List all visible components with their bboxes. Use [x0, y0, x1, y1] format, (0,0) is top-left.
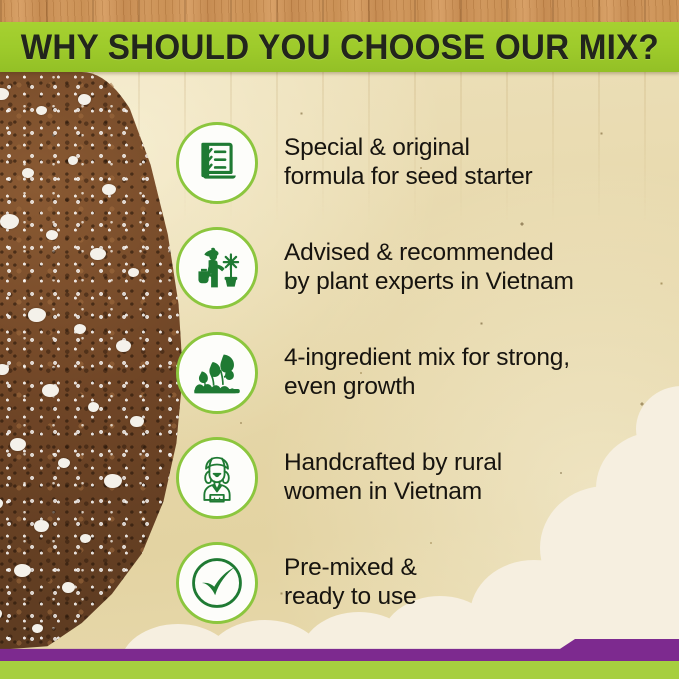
- benefit-line-1: 4-ingredient mix for strong,: [284, 344, 570, 371]
- benefit-line-2: even growth: [284, 373, 570, 402]
- list-item: Pre-mixed & ready to use: [176, 530, 679, 635]
- checkmark-circle-icon: [187, 553, 247, 613]
- benefit-line-1: Pre-mixed &: [284, 554, 417, 581]
- benefit-line-2: by plant experts in Vietnam: [284, 268, 574, 297]
- list-item: Special & original formula for seed star…: [176, 110, 679, 215]
- benefit-text: Pre-mixed & ready to use: [284, 554, 417, 611]
- green-footer-band: [0, 661, 679, 679]
- benefit-text: Handcrafted by rural women in Vietnam: [284, 449, 502, 506]
- benefit-icon-badge: [176, 332, 258, 414]
- list-item: Advised & recommended by plant experts i…: [176, 215, 679, 320]
- benefit-line-1: Special & original: [284, 134, 470, 161]
- sprouting-seedlings-icon: [190, 346, 244, 400]
- benefit-icon-badge: [176, 122, 258, 204]
- benefit-text: Special & original formula for seed star…: [284, 134, 532, 191]
- list-item: Handcrafted by rural women in Vietnam: [176, 425, 679, 530]
- checklist-document-icon: [192, 138, 242, 188]
- benefit-line-1: Advised & recommended: [284, 239, 554, 266]
- benefit-line-2: formula for seed starter: [284, 163, 532, 192]
- page-title: WHY SHOULD YOU CHOOSE OUR MIX?: [20, 30, 658, 65]
- gardener-watering-plant-icon: [190, 241, 244, 295]
- benefit-icon-badge: [176, 542, 258, 624]
- benefits-list: Special & original formula for seed star…: [176, 110, 679, 635]
- benefit-line-1: Handcrafted by rural: [284, 449, 502, 476]
- benefit-icon-badge: [176, 227, 258, 309]
- benefit-line-2: ready to use: [284, 583, 417, 612]
- rural-woman-icon: [190, 451, 244, 505]
- benefit-icon-badge: [176, 437, 258, 519]
- benefit-text: Advised & recommended by plant experts i…: [284, 239, 574, 296]
- header-banner: WHY SHOULD YOU CHOOSE OUR MIX?: [0, 22, 679, 72]
- infographic-poster: WHY SHOULD YOU CHOOSE OUR MIX?: [0, 0, 679, 679]
- benefit-line-2: women in Vietnam: [284, 478, 502, 507]
- list-item: 4-ingredient mix for strong, even growth: [176, 320, 679, 425]
- benefit-text: 4-ingredient mix for strong, even growth: [284, 344, 570, 401]
